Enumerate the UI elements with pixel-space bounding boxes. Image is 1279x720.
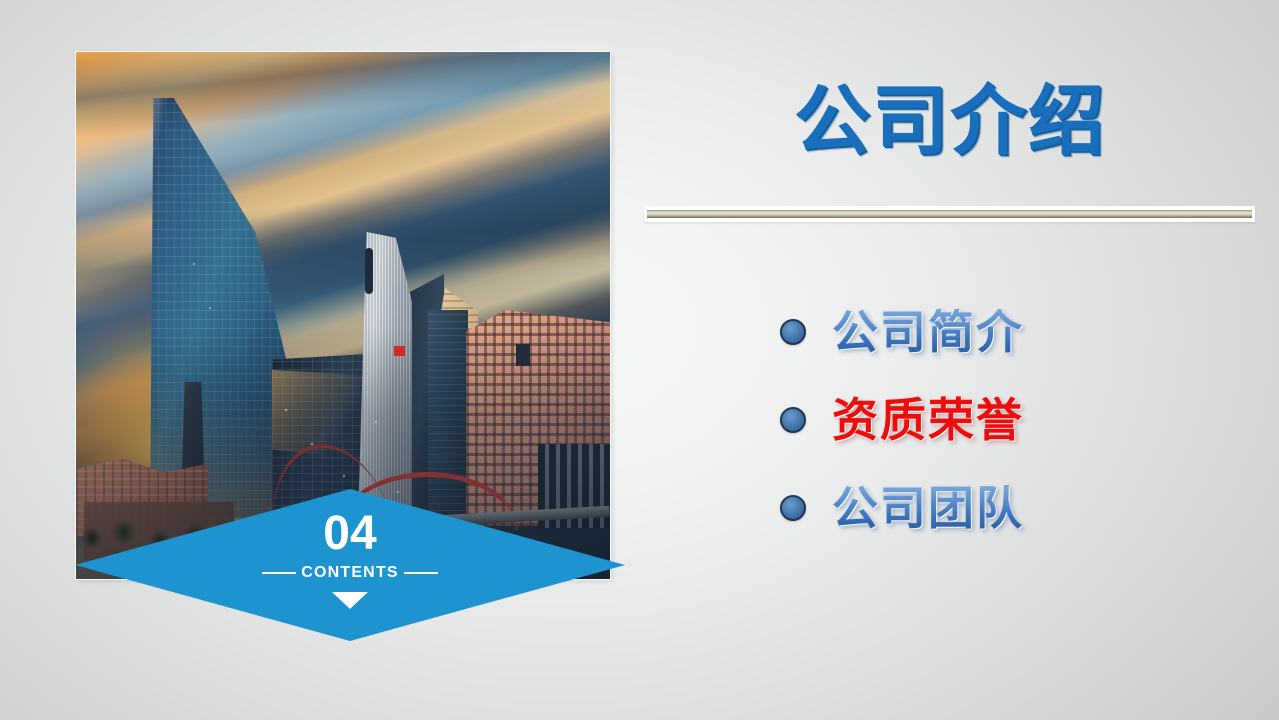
agenda-item-label: 公司团队 [832, 485, 1024, 531]
agenda-item-label: 公司简介 [832, 309, 1024, 355]
agenda-item-company-team[interactable]: 公司团队 [780, 464, 1200, 552]
section-number: 04 [323, 510, 376, 558]
agenda-item-qualifications-honors[interactable]: 资质荣誉 [780, 376, 1200, 464]
bullet-dot-icon [780, 319, 806, 345]
agenda-item-company-profile[interactable]: 公司简介 [780, 288, 1200, 376]
agenda-list: 公司简介 资质荣誉 公司团队 [780, 288, 1200, 552]
bullet-dot-icon [780, 407, 806, 433]
title-block: 公司介绍 [644, 84, 1256, 160]
contents-label-row: CONTENTS [262, 565, 438, 581]
rule-right-decoration [404, 572, 438, 574]
page-title: 公司介绍 [644, 84, 1256, 160]
rule-left-decoration [262, 572, 296, 574]
chevron-down-icon [332, 592, 368, 609]
presentation-slide: 04 CONTENTS 公司介绍 公司简介 资质荣誉 公司团队 [0, 0, 1279, 720]
title-divider [644, 206, 1255, 222]
contents-label: CONTENTS [301, 565, 399, 581]
agenda-item-label: 资质荣誉 [832, 397, 1024, 443]
bullet-dot-icon [780, 495, 806, 521]
title-divider-bar [647, 210, 1252, 218]
